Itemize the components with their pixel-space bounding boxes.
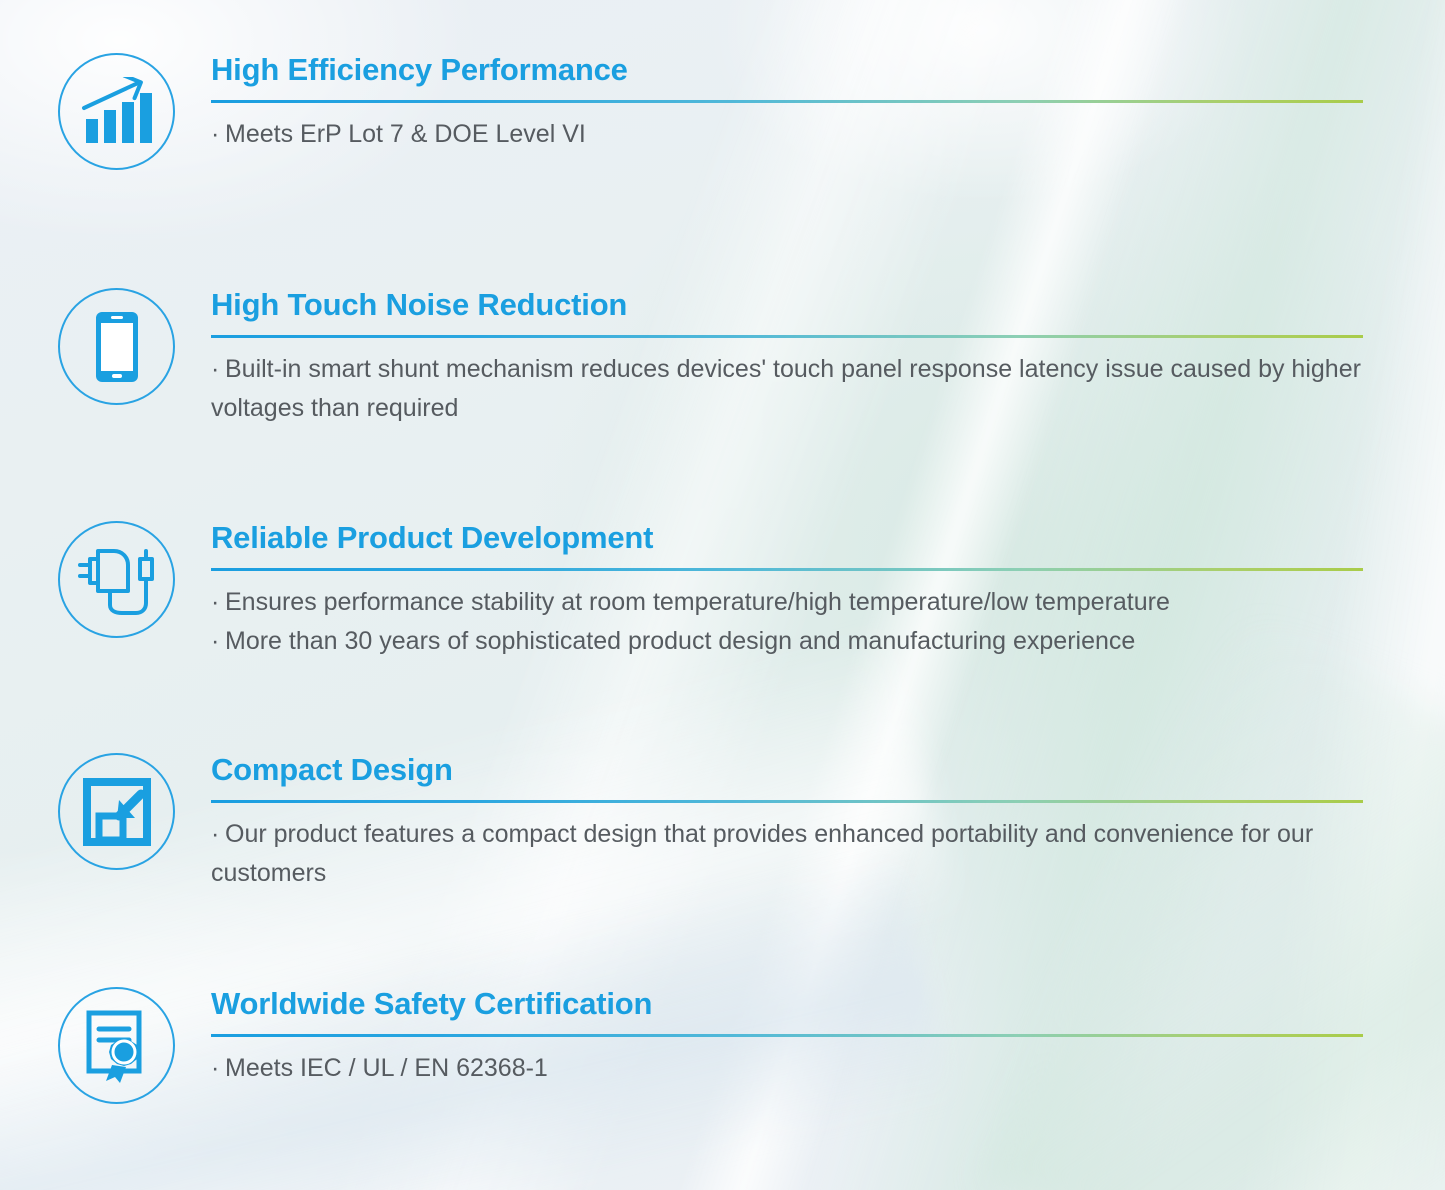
feature-bullet: ·Meets IEC / UL / EN 62368-1 — [211, 1049, 1363, 1088]
feature-title: High Touch Noise Reduction — [211, 288, 1363, 322]
bullet-marker: · — [211, 1049, 225, 1088]
certificate-seal-icon — [58, 987, 175, 1104]
feature-divider — [211, 100, 1363, 103]
bullet-text: Built-in smart shunt mechanism reduces d… — [211, 355, 1361, 422]
bullet-text: More than 30 years of sophisticated prod… — [225, 627, 1135, 655]
background-streak-5 — [0, 623, 960, 1190]
feature-title: Reliable Product Development — [211, 521, 1363, 555]
feature-title: Compact Design — [211, 753, 1363, 787]
feature-content: High Efficiency Performance ·Meets ErP L… — [211, 53, 1363, 154]
bullet-marker: · — [211, 815, 225, 854]
feature-divider — [211, 568, 1363, 571]
feature-body: ·Meets ErP Lot 7 & DOE Level VI — [211, 115, 1363, 154]
bullet-marker: · — [211, 115, 225, 154]
feature-bullet: ·Meets ErP Lot 7 & DOE Level VI — [211, 115, 1363, 154]
bullet-marker: · — [211, 622, 225, 661]
feature-content: Reliable Product Development ·Ensures pe… — [211, 521, 1363, 661]
feature-title: Worldwide Safety Certification — [211, 987, 1363, 1021]
feature-bullet: ·Ensures performance stability at room t… — [211, 583, 1363, 622]
feature-divider — [211, 800, 1363, 803]
bullet-marker: · — [211, 583, 225, 622]
feature-content: Compact Design ·Our product features a c… — [211, 753, 1363, 893]
feature-content: High Touch Noise Reduction ·Built-in sma… — [211, 288, 1363, 428]
power-adapter-icon — [58, 521, 175, 638]
feature-bullet: ·Our product features a compact design t… — [211, 815, 1363, 893]
bar-chart-growth-icon — [58, 53, 175, 170]
feature-bullet: ·More than 30 years of sophisticated pro… — [211, 622, 1363, 661]
feature-content: Worldwide Safety Certification ·Meets IE… — [211, 987, 1363, 1088]
bullet-text: Our product features a compact design th… — [211, 820, 1313, 887]
feature-divider — [211, 1034, 1363, 1037]
feature-divider — [211, 335, 1363, 338]
bullet-text: Meets ErP Lot 7 & DOE Level VI — [225, 120, 586, 148]
bullet-marker: · — [211, 350, 225, 389]
feature-body: ·Ensures performance stability at room t… — [211, 583, 1363, 661]
feature-bullet: ·Built-in smart shunt mechanism reduces … — [211, 350, 1363, 428]
compact-resize-icon — [58, 753, 175, 870]
bullet-text: Meets IEC / UL / EN 62368-1 — [225, 1054, 548, 1082]
feature-body: ·Meets IEC / UL / EN 62368-1 — [211, 1049, 1363, 1088]
feature-body: ·Our product features a compact design t… — [211, 815, 1363, 893]
feature-highlights-page: High Efficiency Performance ·Meets ErP L… — [0, 0, 1445, 1190]
feature-title: High Efficiency Performance — [211, 53, 1363, 87]
bullet-text: Ensures performance stability at room te… — [225, 588, 1170, 616]
feature-body: ·Built-in smart shunt mechanism reduces … — [211, 350, 1363, 428]
background-streak-7 — [983, 619, 1445, 1190]
smartphone-icon — [58, 288, 175, 405]
